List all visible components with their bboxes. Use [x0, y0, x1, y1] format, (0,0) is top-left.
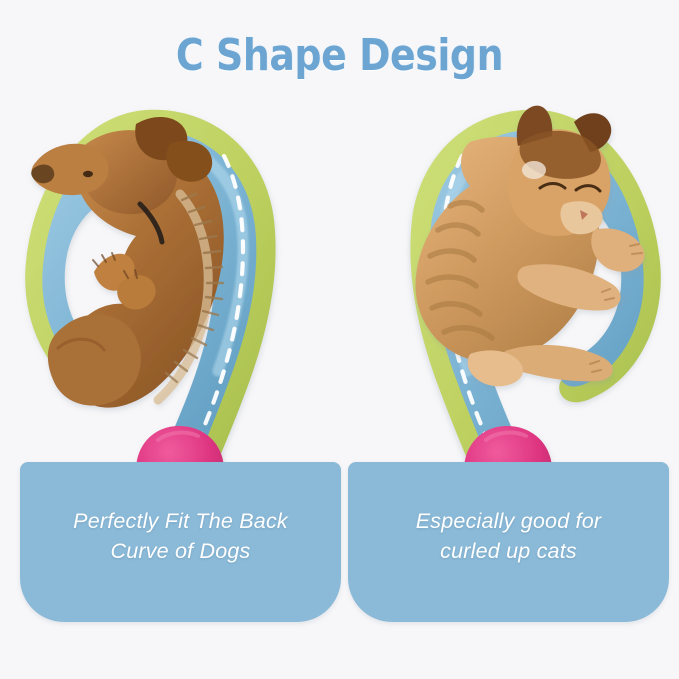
- caption-line-1: Especially good for: [348, 506, 669, 536]
- caption-text-dog: Perfectly Fit The Back Curve of Dogs: [20, 506, 341, 566]
- caption-text-cat: Especially good for curled up cats: [348, 506, 669, 566]
- page-title: C Shape Design: [48, 32, 632, 80]
- caption-line-1: Perfectly Fit The Back: [20, 506, 341, 536]
- product-feature-image: C Shape Design: [0, 0, 679, 679]
- caption-panel-dog: Perfectly Fit The Back Curve of Dogs: [20, 462, 341, 622]
- caption-panel-cat: Especially good for curled up cats: [348, 462, 669, 622]
- dog-scene: [28, 96, 328, 496]
- caption-line-2: curled up cats: [348, 536, 669, 566]
- cat-scene: [358, 96, 658, 496]
- caption-line-2: Curve of Dogs: [20, 536, 341, 566]
- dog-eye: [83, 171, 93, 177]
